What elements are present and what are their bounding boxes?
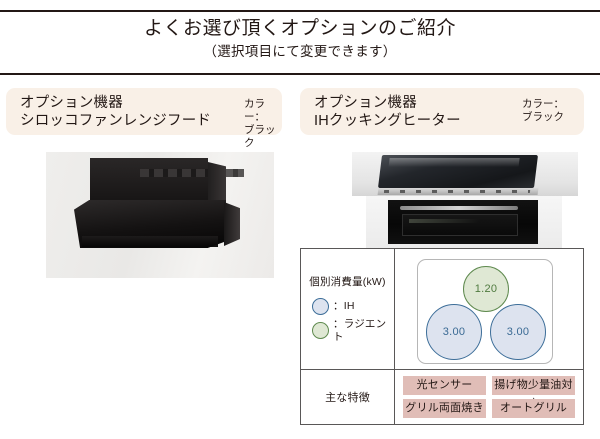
page-subtitle: （選択項目にて変更できます） (0, 42, 600, 62)
option-title-ihheater: IHクッキングヒーター (314, 112, 461, 131)
burner-bottom-right: 3.00 (490, 304, 546, 360)
legend-swatch-radiant-icon (312, 322, 329, 339)
consumption-legend-cell: 個別消費量(kW) ：IH ：ラジエント (301, 249, 395, 369)
option-kicker-ihheater: オプション機器 (314, 94, 461, 112)
ih-grill-handle (400, 206, 518, 210)
title-rule-top (0, 10, 600, 12)
feature-tag: 光センサー (403, 376, 486, 395)
legend-swatch-ih-icon (312, 298, 329, 315)
features-tags-cell: 光センサー 揚げ物少量油対応 グリル両面焼き オートグリル (395, 370, 583, 424)
legend-item-radiant: ：ラジエント (301, 318, 394, 344)
ih-cooktop-photo (352, 152, 578, 250)
feature-tag: オートグリル (492, 399, 575, 418)
legend-item-ih: ：IH (301, 298, 394, 315)
color-label-ihheater: カラー： (522, 98, 564, 111)
page-title: よくお選び頂くオプションのご紹介 (0, 16, 600, 42)
ih-glass-reflection (389, 158, 520, 167)
feature-tag-list: 光センサー 揚げ物少量油対応 グリル両面焼き オートグリル (403, 376, 575, 418)
ih-grill-door (388, 200, 538, 244)
spec-row-consumption: 個別消費量(kW) ：IH ：ラジエント 1.20 3.00 3.00 (301, 249, 583, 369)
features-label: 主な特徴 (301, 389, 394, 405)
ih-grill-window (402, 214, 518, 236)
color-label-rangehood: カラー： (244, 98, 282, 124)
option-color-rangehood: カラー： ブラック (244, 98, 282, 150)
hood-vent-slots (140, 169, 244, 177)
consumption-legend-title: 個別消費量(kW) (301, 275, 394, 289)
hood-filter-panel (82, 236, 218, 247)
ih-countertop (352, 152, 578, 196)
option-kicker-rangehood: オプション機器 (20, 94, 211, 112)
color-value-rangehood: ブラック (244, 124, 282, 150)
ih-spec-table: 個別消費量(kW) ：IH ：ラジエント 1.20 3.00 3.00 (300, 248, 584, 425)
option-title-rangehood: シロッコファンレンジフード (20, 112, 211, 131)
option-name-group-rangehood: オプション機器 シロッコファンレンジフード (20, 94, 211, 131)
feature-tag: 揚げ物少量油対応 (492, 376, 575, 395)
range-hood-photo (46, 152, 274, 278)
hood-upper-body-side (208, 162, 226, 206)
burner-bottom-left: 3.00 (426, 304, 482, 360)
page-title-block: よくお選び頂くオプションのご紹介 （選択項目にて変更できます） (0, 16, 600, 62)
ih-control-buttons (384, 190, 530, 193)
burner-diagram-cell: 1.20 3.00 3.00 (395, 249, 583, 369)
burner-top-center: 1.20 (463, 266, 509, 312)
legend-label-radiant: ：ラジエント (333, 318, 394, 344)
ih-grill-window-glow (409, 219, 479, 223)
ih-control-strip (378, 188, 539, 195)
ih-glass-top (378, 155, 538, 188)
option-introduction-page: よくお選び頂くオプションのご紹介 （選択項目にて変更できます） オプション機器 … (0, 0, 600, 439)
hood-canopy-side (224, 202, 240, 246)
hood-upper-body (90, 158, 208, 202)
feature-tag: グリル両面焼き (403, 399, 486, 418)
option-color-ihheater: カラー： ブラック (522, 98, 564, 124)
option-name-group-ihheater: オプション機器 IHクッキングヒーター (314, 94, 461, 131)
hob-layout-diagram: 1.20 3.00 3.00 (417, 259, 553, 364)
spec-row-features: 主な特徴 光センサー 揚げ物少量油対応 グリル両面焼き オートグリル (301, 369, 583, 424)
legend-label-ih: ：IH (333, 300, 355, 313)
ih-cabinet (366, 196, 562, 250)
option-header-ihheater: オプション機器 IHクッキングヒーター カラー： ブラック (300, 88, 584, 135)
title-rule-bottom (0, 73, 600, 75)
color-value-ihheater: ブラック (522, 111, 564, 124)
features-label-cell: 主な特徴 (301, 370, 395, 424)
option-header-rangehood: オプション機器 シロッコファンレンジフード カラー： ブラック (6, 88, 282, 135)
